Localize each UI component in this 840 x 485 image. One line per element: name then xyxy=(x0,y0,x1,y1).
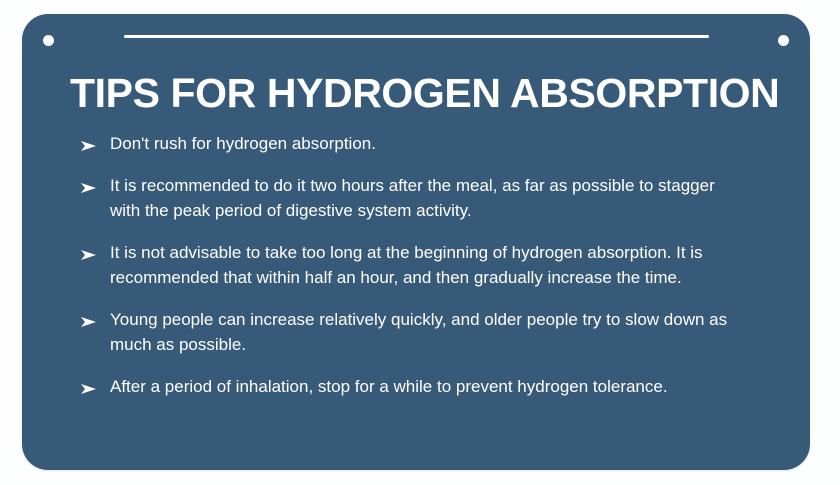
sign-panel: TIPS FOR HYDROGEN ABSORPTION Don't rush … xyxy=(22,14,810,470)
list-item-text: Don't rush for hydrogen absorption. xyxy=(110,131,730,156)
right-triangle-arrow-icon xyxy=(80,131,110,152)
list-item: After a period of inhalation, stop for a… xyxy=(80,374,780,399)
list-item-text: It is recommended to do it two hours aft… xyxy=(110,173,730,223)
right-triangle-arrow-icon xyxy=(80,240,110,261)
right-triangle-arrow-icon xyxy=(80,374,110,395)
list-item: It is not advisable to take too long at … xyxy=(80,240,780,290)
list-item-text: After a period of inhalation, stop for a… xyxy=(110,374,730,399)
list-item: Don't rush for hydrogen absorption. xyxy=(80,131,780,156)
list-item-text: Young people can increase relatively qui… xyxy=(110,307,730,357)
right-triangle-arrow-icon xyxy=(80,173,110,194)
page-title: TIPS FOR HYDROGEN ABSORPTION xyxy=(70,69,770,117)
screw-hole-left-icon xyxy=(43,35,54,46)
tips-list: Don't rush for hydrogen absorption. It i… xyxy=(80,131,780,399)
right-triangle-arrow-icon xyxy=(80,307,110,328)
header-divider xyxy=(124,35,709,38)
list-item: It is recommended to do it two hours aft… xyxy=(80,173,780,223)
list-item: Young people can increase relatively qui… xyxy=(80,307,780,357)
list-item-text: It is not advisable to take too long at … xyxy=(110,240,730,290)
screw-hole-right-icon xyxy=(778,35,789,46)
poster-canvas: TIPS FOR HYDROGEN ABSORPTION Don't rush … xyxy=(0,0,840,485)
